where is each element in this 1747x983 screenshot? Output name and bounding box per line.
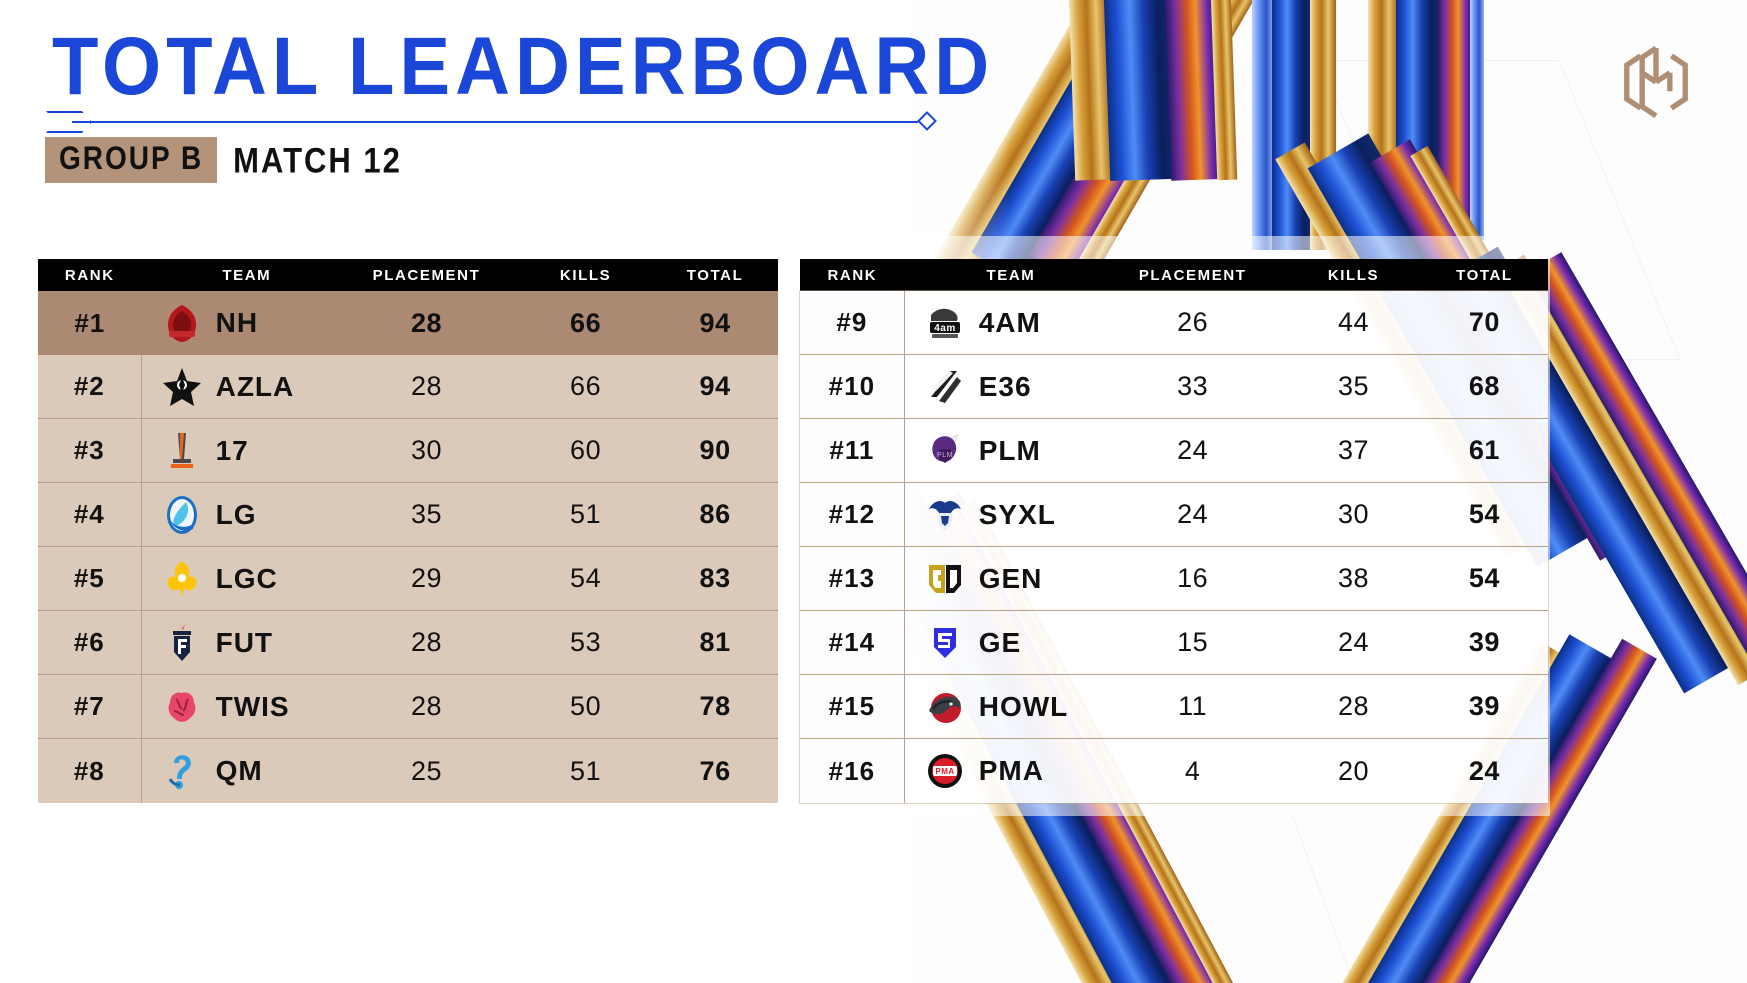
nh-esports-logo [160,301,204,345]
plm-purple-logo: PLM [923,429,967,473]
howl-wolf-logo [923,685,967,729]
table-row: #11PLMPLM243761 [800,419,1548,483]
team-name: TWIS [216,691,290,723]
col-header-placement: PLACEMENT [334,267,519,284]
table-row: #6FUT285381 [38,611,778,675]
cell-total: 39 [1421,611,1548,674]
qm-question-logo [160,749,204,793]
cell-team: E36 [905,355,1099,418]
title-divider [46,108,926,136]
cell-rank: #1 [38,291,142,355]
pillar-blue-1 [1272,0,1312,250]
cell-total: 68 [1421,355,1548,418]
cell-placement: 15 [1099,611,1286,674]
cell-kills: 53 [519,611,652,674]
team-name: SYXL [979,499,1056,531]
col-header-rank: RANK [38,267,142,284]
svg-text:4am: 4am [934,323,956,334]
cell-total: 94 [652,291,778,355]
cell-rank: #14 [800,611,905,674]
pillar-light-1 [1252,0,1274,250]
cell-placement: 16 [1099,547,1286,610]
cell-kills: 38 [1286,547,1421,610]
17-gaming-logo [160,429,204,473]
cgc-logo [1617,42,1695,122]
cell-kills: 66 [519,291,652,355]
team-name: 4AM [979,307,1041,339]
cell-rank: #12 [800,483,905,546]
table-row: #1NH286694 [38,291,778,355]
table-row: #10E36333568 [800,355,1548,419]
team-name: LGC [216,563,278,595]
svg-text:PMA: PMA [935,767,954,776]
ghost-chevron-4 [0,800,553,983]
cell-team: NH [142,291,334,355]
cell-kills: 35 [1286,355,1421,418]
cell-total: 94 [652,355,778,418]
col-header-kills: KILLS [519,267,652,284]
cell-rank: #9 [800,291,905,354]
genius-esports-logo [923,621,967,665]
col-header-total: TOTAL [652,267,778,284]
cell-total: 54 [1421,483,1548,546]
arch-fire-farright [1527,252,1747,688]
arch-fire-left [1029,0,1241,281]
4am-logo: 4am [923,301,967,345]
cell-placement: 28 [334,355,519,418]
cell-kills: 60 [519,419,652,482]
arch-gold-inner-left [1077,0,1261,273]
pillar-light-2 [1470,0,1484,240]
table-row: #13GEN163854 [800,547,1548,611]
col-header-team-right: TEAM [905,267,1099,284]
pillar-fire-2 [1438,0,1472,240]
subtitle-row: GROUP B MATCH 12 [45,140,402,180]
cell-team: LG [142,483,334,546]
cell-placement: 26 [1099,291,1286,354]
cell-total: 90 [652,419,778,482]
pma-logo: PMA [923,749,967,793]
cell-rank: #11 [800,419,905,482]
cell-total: 76 [652,739,778,803]
cell-total: 61 [1421,419,1548,482]
col-header-total-right: TOTAL [1421,267,1548,284]
cell-kills: 66 [519,355,652,418]
cell-kills: 44 [1286,291,1421,354]
table-row: #4LG355186 [38,483,778,547]
cell-total: 78 [652,675,778,738]
azla-star-logo [160,365,204,409]
table-row: #16PMAPMA42024 [800,739,1548,803]
col-header-kills-right: KILLS [1286,267,1421,284]
team-name: AZLA [216,371,295,403]
team-name: QM [216,755,263,787]
cell-placement: 35 [334,483,519,546]
cell-rank: #10 [800,355,905,418]
gen-g-logo [923,557,967,601]
cell-kills: 50 [519,675,652,738]
cell-team: TWIS [142,675,334,738]
cell-rank: #4 [38,483,142,546]
divider-diamond-icon [917,111,937,131]
table-header-left: RANK TEAM PLACEMENT KILLS TOTAL [38,259,778,291]
cell-total: 81 [652,611,778,674]
cell-placement: 25 [334,739,519,803]
team-name: LG [216,499,257,531]
team-name: HOWL [979,691,1069,723]
cell-team: AZLA [142,355,334,418]
team-name: GE [979,627,1021,659]
team-name: GEN [979,563,1043,595]
cell-kills: 54 [519,547,652,610]
cell-rank: #6 [38,611,142,674]
cell-team: PMAPMA [905,739,1099,803]
cell-rank: #5 [38,547,142,610]
pillar-gold-2 [1368,0,1398,240]
team-name: NH [216,307,258,339]
cell-kills: 24 [1286,611,1421,674]
col-header-rank-right: RANK [800,267,905,284]
pillar-gold-1 [1310,0,1336,250]
cell-placement: 24 [1099,419,1286,482]
table-row: #5LGC295483 [38,547,778,611]
team-name: PLM [979,435,1041,467]
cell-team: SYXL [905,483,1099,546]
cell-kills: 20 [1286,739,1421,803]
team-name: PMA [979,755,1044,787]
cell-rank: #8 [38,739,142,803]
cell-team: LGC [142,547,334,610]
table-row: #94am4AM264470 [800,291,1548,355]
cell-placement: 29 [334,547,519,610]
cell-team: GE [905,611,1099,674]
cell-total: 83 [652,547,778,610]
cell-team: PLMPLM [905,419,1099,482]
cell-rank: #13 [800,547,905,610]
table-body-left: #1NH286694#2AZLA286694#317306090#4LG3551… [38,291,778,803]
table-row: #2AZLA286694 [38,355,778,419]
table-row: #14GE152439 [800,611,1548,675]
cell-placement: 24 [1099,483,1286,546]
cell-team: 4am4AM [905,291,1099,354]
table-header-right: RANK TEAM PLACEMENT KILLS TOTAL [800,259,1548,291]
cell-kills: 30 [1286,483,1421,546]
cell-rank: #2 [38,355,142,418]
page-title: TOTAL LEADERBOARD [52,26,994,108]
twis-brain-logo [160,685,204,729]
table-row: #15HOWL112839 [800,675,1548,739]
cell-placement: 33 [1099,355,1286,418]
divider-line [72,121,918,123]
cell-rank: #15 [800,675,905,738]
table-row: #317306090 [38,419,778,483]
cell-kills: 51 [519,739,652,803]
cell-total: 24 [1421,739,1548,803]
cell-placement: 28 [334,675,519,738]
syxl-dragon-logo [923,493,967,537]
col-header-placement-right: PLACEMENT [1099,267,1286,284]
cell-placement: 30 [334,419,519,482]
cell-team: FUT [142,611,334,674]
arch-blue-outer-left [972,0,1191,283]
pillar-blue-2 [1396,0,1440,240]
e36-wing-logo [923,365,967,409]
fut-shield-logo [160,621,204,665]
arch-gold-apex [1065,0,1113,181]
arch-fire-apex [1161,0,1221,181]
cell-rank: #16 [800,739,905,803]
cell-kills: 51 [519,483,652,546]
table-body-right: #94am4AM264470#10E36333568#11PLMPLM24376… [800,291,1548,803]
group-badge: GROUP B [45,137,217,183]
arch-blue-apex [1100,0,1176,181]
cell-team: GEN [905,547,1099,610]
cell-placement: 28 [334,291,519,355]
col-header-team: TEAM [142,267,334,284]
cell-placement: 28 [334,611,519,674]
cell-team: HOWL [905,675,1099,738]
arch-gold-apex2 [1207,0,1237,180]
team-name: E36 [979,371,1032,403]
leaderboard-right: RANK TEAM PLACEMENT KILLS TOTAL #94am4AM… [800,259,1548,803]
cell-team: 17 [142,419,334,482]
svg-text:PLM: PLM [937,452,953,459]
cell-rank: #7 [38,675,142,738]
table-row: #12SYXL243054 [800,483,1548,547]
table-row: #7TWIS285078 [38,675,778,739]
team-name: 17 [216,435,249,467]
match-label: MATCH 12 [233,142,402,178]
table-row: #8QM255176 [38,739,778,803]
cell-total: 39 [1421,675,1548,738]
cell-kills: 28 [1286,675,1421,738]
lg-droplet-logo [160,493,204,537]
cell-total: 54 [1421,547,1548,610]
cell-kills: 37 [1286,419,1421,482]
cell-total: 70 [1421,291,1548,354]
cell-placement: 4 [1099,739,1286,803]
cell-placement: 11 [1099,675,1286,738]
team-name: FUT [216,627,273,659]
leaderboard-left: RANK TEAM PLACEMENT KILLS TOTAL #1NH2866… [38,259,778,803]
cell-total: 86 [652,483,778,546]
lgc-cloud-logo [160,557,204,601]
cell-team: QM [142,739,334,803]
cell-rank: #3 [38,419,142,482]
